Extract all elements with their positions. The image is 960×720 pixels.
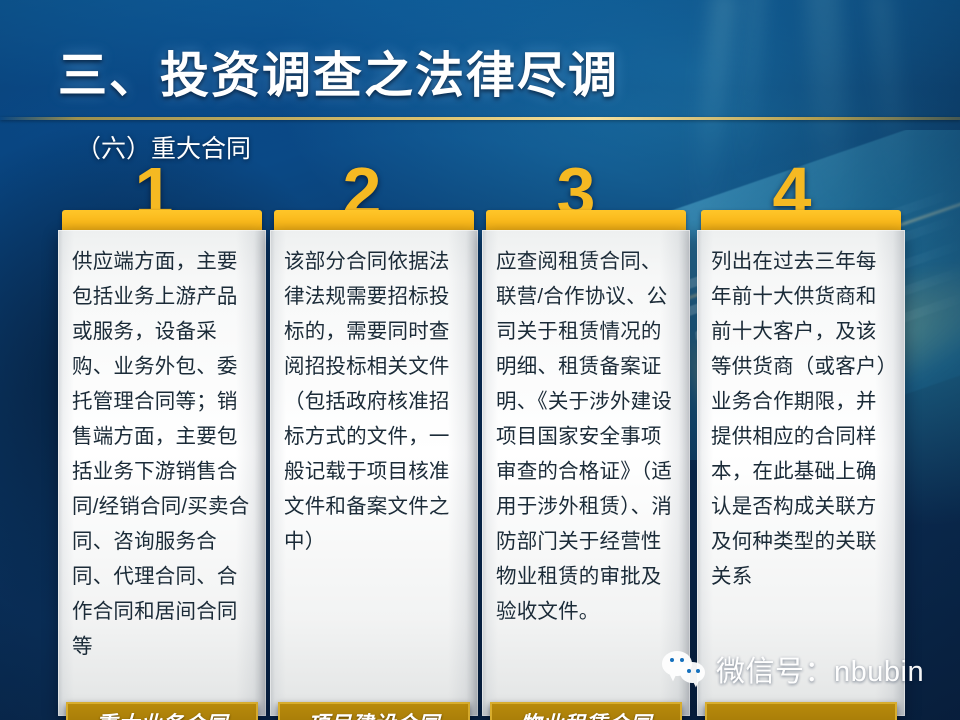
column-group: 1 供应端方面，主要包括业务上游产品或服务，设备采购、业务外包、委托管理合同等；… bbox=[0, 0, 960, 720]
column-card: 供应端方面，主要包括业务上游产品或服务，设备采购、业务外包、委托管理合同等；销售… bbox=[58, 230, 266, 716]
column-label-banner[interactable]: 物业租赁合同 bbox=[490, 702, 682, 720]
column-body-text: 列出在过去三年每年前十大供货商和前十大客户，及该等供货商（或客户）业务合作期限，… bbox=[711, 244, 891, 594]
column-label-banner[interactable]: 项目建设合同 bbox=[278, 702, 470, 720]
column-body-text: 供应端方面，主要包括业务上游产品或服务，设备采购、业务外包、委托管理合同等；销售… bbox=[72, 244, 252, 664]
column-card: 应查阅租赁合同、联营/合作协议、公司关于租赁情况的明细、租赁备案证明、《关于涉外… bbox=[482, 230, 690, 716]
column-tab-bar bbox=[274, 210, 474, 232]
column-card: 该部分合同依据法律法规需要招标投标的，需要同时查阅招投标相关文件（包括政府核准招… bbox=[270, 230, 478, 716]
column-tab-bar bbox=[486, 210, 686, 232]
column-label-text: 重大业务合同 bbox=[96, 708, 228, 720]
column-card: 列出在过去三年每年前十大供货商和前十大客户，及该等供货商（或客户）业务合作期限，… bbox=[697, 230, 905, 716]
column-label-text: 项目建设合同 bbox=[308, 708, 440, 720]
column-label-banner[interactable] bbox=[705, 702, 897, 720]
slide-canvas: 三、投资调查之法律尽调 （六）重大合同 1 供应端方面，主要包括业务上游产品或服… bbox=[0, 0, 960, 720]
column-tab-bar bbox=[62, 210, 262, 232]
column-body-text: 应查阅租赁合同、联营/合作协议、公司关于租赁情况的明细、租赁备案证明、《关于涉外… bbox=[496, 244, 676, 629]
column-label-text: 物业租赁合同 bbox=[520, 708, 652, 720]
column-tab-bar bbox=[701, 210, 901, 232]
column-label-banner[interactable]: 重大业务合同 bbox=[66, 702, 258, 720]
column-body-text: 该部分合同依据法律法规需要招标投标的，需要同时查阅招投标相关文件（包括政府核准招… bbox=[284, 244, 464, 559]
